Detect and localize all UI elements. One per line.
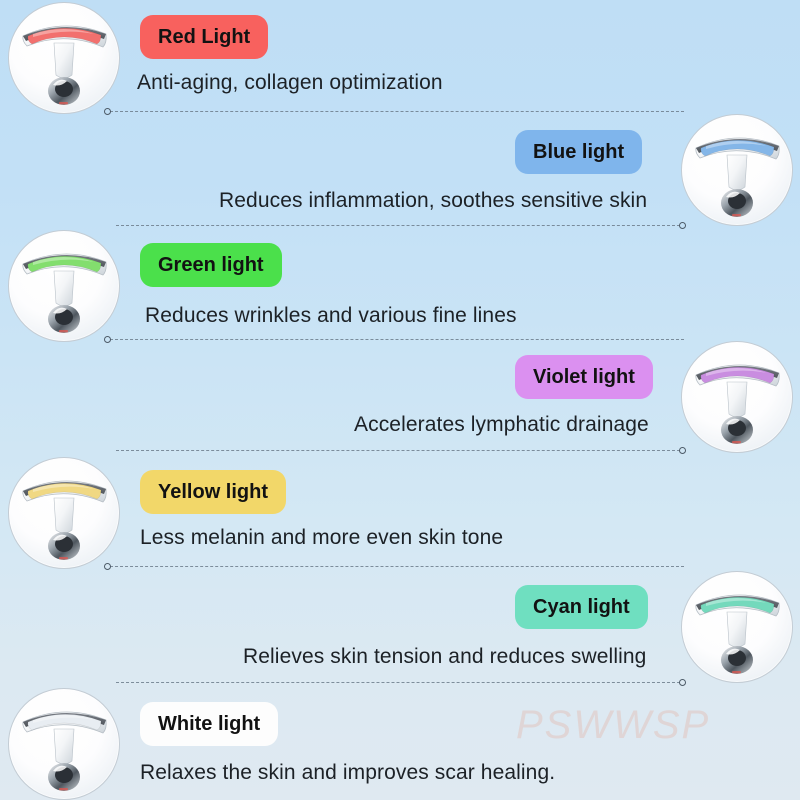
infographic-poster: PSWWSP — [0, 0, 800, 800]
device-illustration-white — [9, 689, 119, 799]
product-photo-white — [8, 688, 120, 800]
connector-dashes — [116, 450, 680, 451]
connector-line-blue — [116, 222, 686, 229]
connector-endpoint-dot — [104, 108, 111, 115]
product-photo-blue — [681, 114, 793, 226]
light-mode-badge-white[interactable]: White light — [140, 702, 278, 746]
connector-line-red — [104, 108, 684, 115]
light-mode-description-cyan: Relieves skin tension and reduces swelli… — [243, 645, 646, 669]
light-mode-badge-yellow[interactable]: Yellow light — [140, 470, 286, 514]
product-photo-yellow — [8, 457, 120, 569]
connector-dashes — [110, 111, 684, 112]
watermark-text: PSWWSP — [516, 703, 710, 748]
connector-endpoint-dot — [679, 222, 686, 229]
connector-line-yellow — [104, 563, 684, 570]
light-mode-description-yellow: Less melanin and more even skin tone — [140, 526, 503, 550]
connector-dashes — [116, 225, 680, 226]
light-mode-description-red: Anti-aging, collagen optimization — [137, 71, 443, 95]
connector-dashes — [110, 566, 684, 567]
connector-line-violet — [116, 447, 686, 454]
product-photo-cyan — [681, 571, 793, 683]
connector-dashes — [116, 682, 680, 683]
light-mode-description-green: Reduces wrinkles and various fine lines — [145, 304, 517, 328]
connector-line-green — [104, 336, 684, 343]
connector-endpoint-dot — [104, 336, 111, 343]
device-illustration-violet — [682, 342, 792, 452]
connector-line-cyan — [116, 679, 686, 686]
light-mode-badge-red[interactable]: Red Light — [140, 15, 268, 59]
light-mode-badge-cyan[interactable]: Cyan light — [515, 585, 648, 629]
device-illustration-blue — [682, 115, 792, 225]
light-mode-badge-violet[interactable]: Violet light — [515, 355, 653, 399]
connector-endpoint-dot — [679, 679, 686, 686]
light-mode-description-blue: Reduces inflammation, soothes sensitive … — [219, 189, 647, 213]
light-mode-description-violet: Accelerates lymphatic drainage — [354, 413, 649, 437]
light-mode-description-white: Relaxes the skin and improves scar heali… — [140, 761, 555, 785]
device-illustration-green — [9, 231, 119, 341]
device-illustration-red — [9, 3, 119, 113]
light-mode-badge-green[interactable]: Green light — [140, 243, 282, 287]
product-photo-red — [8, 2, 120, 114]
product-photo-violet — [681, 341, 793, 453]
device-illustration-yellow — [9, 458, 119, 568]
connector-endpoint-dot — [679, 447, 686, 454]
device-illustration-cyan — [682, 572, 792, 682]
connector-endpoint-dot — [104, 563, 111, 570]
light-mode-badge-blue[interactable]: Blue light — [515, 130, 642, 174]
product-photo-green — [8, 230, 120, 342]
connector-dashes — [110, 339, 684, 340]
